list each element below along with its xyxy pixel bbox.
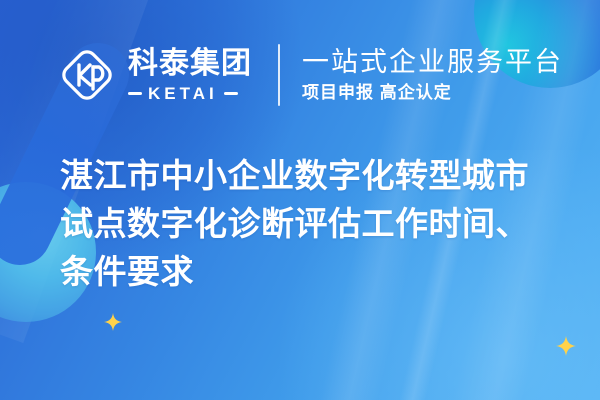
vertical-divider-icon <box>278 44 280 106</box>
banner-header: 科泰集团 KETAI 一站式企业服务平台 项目申报 高企认定 <box>56 38 563 112</box>
tagline-secondary: 项目申报 高企认定 <box>302 84 563 103</box>
logo-rule-right-icon <box>224 92 238 95</box>
logo-company-name-en-row: KETAI <box>128 85 252 102</box>
logo-company-name-en: KETAI <box>148 85 218 102</box>
banner-headline: 湛江市中小企业数字化转型城市试点数字化诊断评估工作时间、条件要求 <box>60 152 556 296</box>
logo-company-name-cn: 科泰集团 <box>128 49 252 79</box>
sparkle-star-icon <box>556 336 576 356</box>
ketai-monogram-icon <box>56 44 118 106</box>
sparkle-star-icon <box>104 313 122 331</box>
tagline-group: 一站式企业服务平台 项目申报 高企认定 <box>302 47 563 103</box>
tagline-primary: 一站式企业服务平台 <box>302 47 563 77</box>
promo-banner: 科泰集团 KETAI 一站式企业服务平台 项目申报 高企认定 湛江市中小企业数字… <box>0 0 600 400</box>
logo-rule-left-icon <box>128 92 142 95</box>
logo-wordmark: 科泰集团 KETAI <box>128 44 252 106</box>
